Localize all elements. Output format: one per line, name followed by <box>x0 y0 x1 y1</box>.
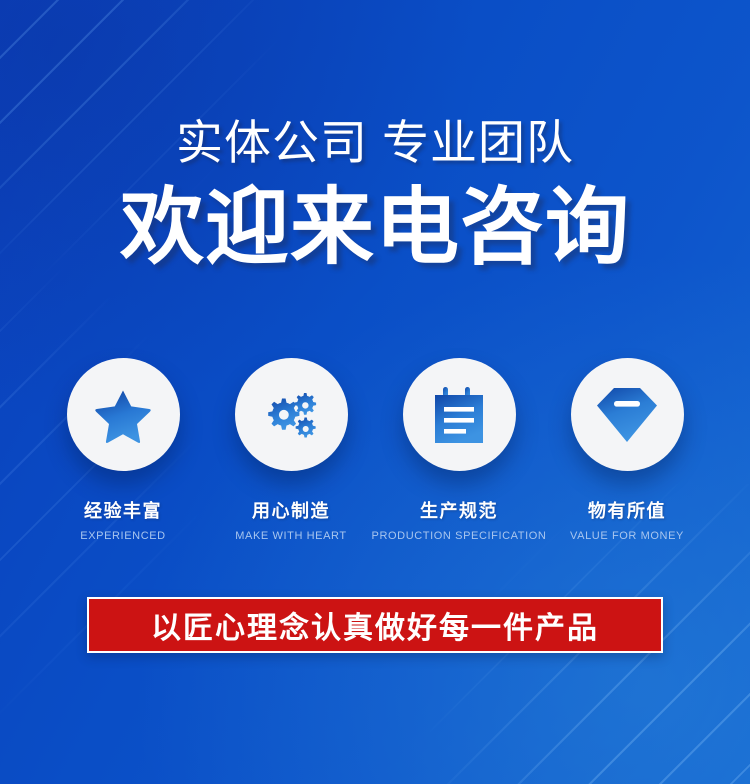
feature-list: 经验丰富 EXPERIENCED <box>42 358 708 542</box>
headline-block: 实体公司 专业团队 欢迎来电咨询 <box>0 118 750 272</box>
feature-icon-circle <box>403 358 516 471</box>
feature-label-en: EXPERIENCED <box>80 530 165 542</box>
feature-icon-circle <box>571 358 684 471</box>
gears-icon <box>260 384 322 446</box>
slogan-text: 以匠心理念认真做好每一件产品 <box>151 603 599 647</box>
clipboard-icon <box>431 385 487 445</box>
feature-label-cn: 物有所值 <box>588 497 666 523</box>
feature-label-cn: 用心制造 <box>252 497 330 523</box>
feature-label-en: PRODUCTION SPECIFICATION <box>372 530 547 542</box>
feature-item-value-for-money: 物有所值 VALUE FOR MONEY <box>546 358 708 542</box>
feature-item-make-with-heart: 用心制造 MAKE WITH HEART <box>210 358 372 542</box>
star-icon <box>93 385 153 445</box>
slogan-banner: 以匠心理念认真做好每一件产品 <box>87 597 663 653</box>
feature-label-en: VALUE FOR MONEY <box>570 530 684 542</box>
feature-label-en: MAKE WITH HEART <box>235 530 346 542</box>
headline-subtitle: 实体公司 专业团队 <box>0 118 750 169</box>
feature-icon-circle <box>67 358 180 471</box>
feature-item-experienced: 经验丰富 EXPERIENCED <box>42 358 204 542</box>
feature-icon-circle <box>235 358 348 471</box>
feature-label-cn: 经验丰富 <box>84 497 162 523</box>
promo-poster: 实体公司 专业团队 欢迎来电咨询 <box>0 0 750 784</box>
feature-label-cn: 生产规范 <box>420 497 498 523</box>
diamond-icon <box>595 386 659 444</box>
headline-title: 欢迎来电咨询 <box>0 183 750 272</box>
feature-item-production-specification: 生产规范 PRODUCTION SPECIFICATION <box>378 358 540 542</box>
